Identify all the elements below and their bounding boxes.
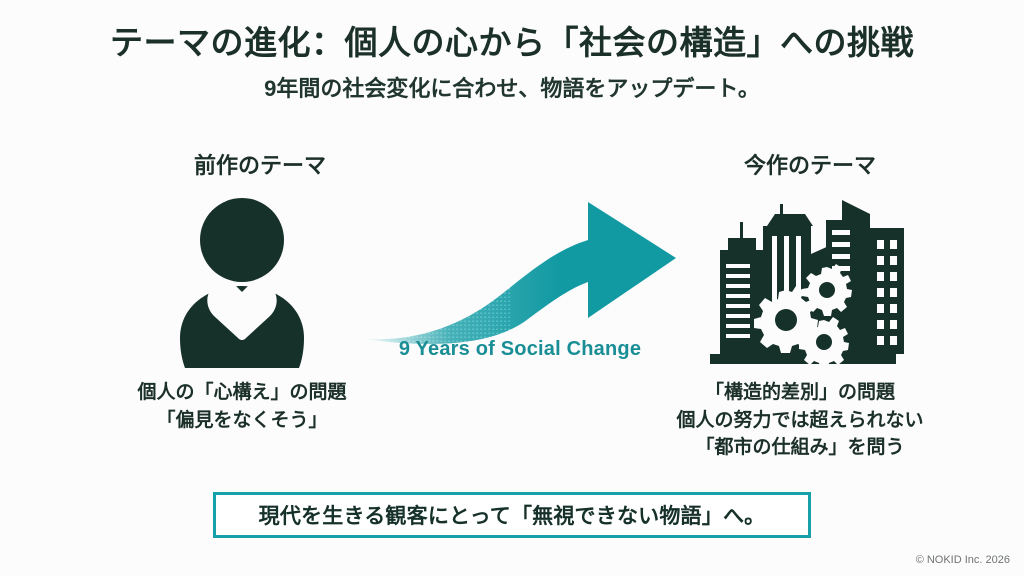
page-subtitle: 9年間の社会変化に合わせ、物語をアップデート。 bbox=[0, 76, 1024, 102]
curved-right-arrow-icon bbox=[360, 196, 680, 346]
slide-canvas: テーマの進化：個人の心から「社会の構造」への挑戦 9年間の社会変化に合わせ、物語… bbox=[0, 0, 1024, 576]
after-caption-line-3: 「都市の仕組み」を問う bbox=[640, 434, 960, 462]
person-with-heart-icon bbox=[152, 190, 332, 370]
after-column-heading: 今作のテーマ bbox=[660, 148, 960, 180]
conclusion-banner-text: 現代を生きる観客にとって「無視できない物語」へ。 bbox=[259, 500, 766, 530]
arrow-label: 9 Years of Social Change bbox=[350, 338, 690, 361]
conclusion-banner: 現代を生きる観客にとって「無視できない物語」へ。 bbox=[213, 492, 811, 538]
before-caption-line-1: 個人の「心構え」の問題 bbox=[92, 379, 392, 407]
before-caption: 個人の「心構え」の問題 「偏見をなくそう」 bbox=[92, 379, 392, 434]
after-caption: 「構造的差別」の問題 個人の努力では超えられない 「都市の仕組み」を問う bbox=[640, 379, 960, 462]
before-column-heading: 前作のテーマ bbox=[110, 148, 410, 180]
copyright-notice: © NOKID Inc. 2026 bbox=[916, 554, 1010, 566]
after-caption-line-2: 個人の努力では超えられない bbox=[640, 407, 960, 435]
page-title: テーマの進化：個人の心から「社会の構造」への挑戦 bbox=[0, 24, 1024, 62]
cityscape-with-gears-icon bbox=[692, 192, 908, 368]
after-caption-line-1: 「構造的差別」の問題 bbox=[640, 379, 960, 407]
before-caption-line-2: 「偏見をなくそう」 bbox=[92, 407, 392, 435]
